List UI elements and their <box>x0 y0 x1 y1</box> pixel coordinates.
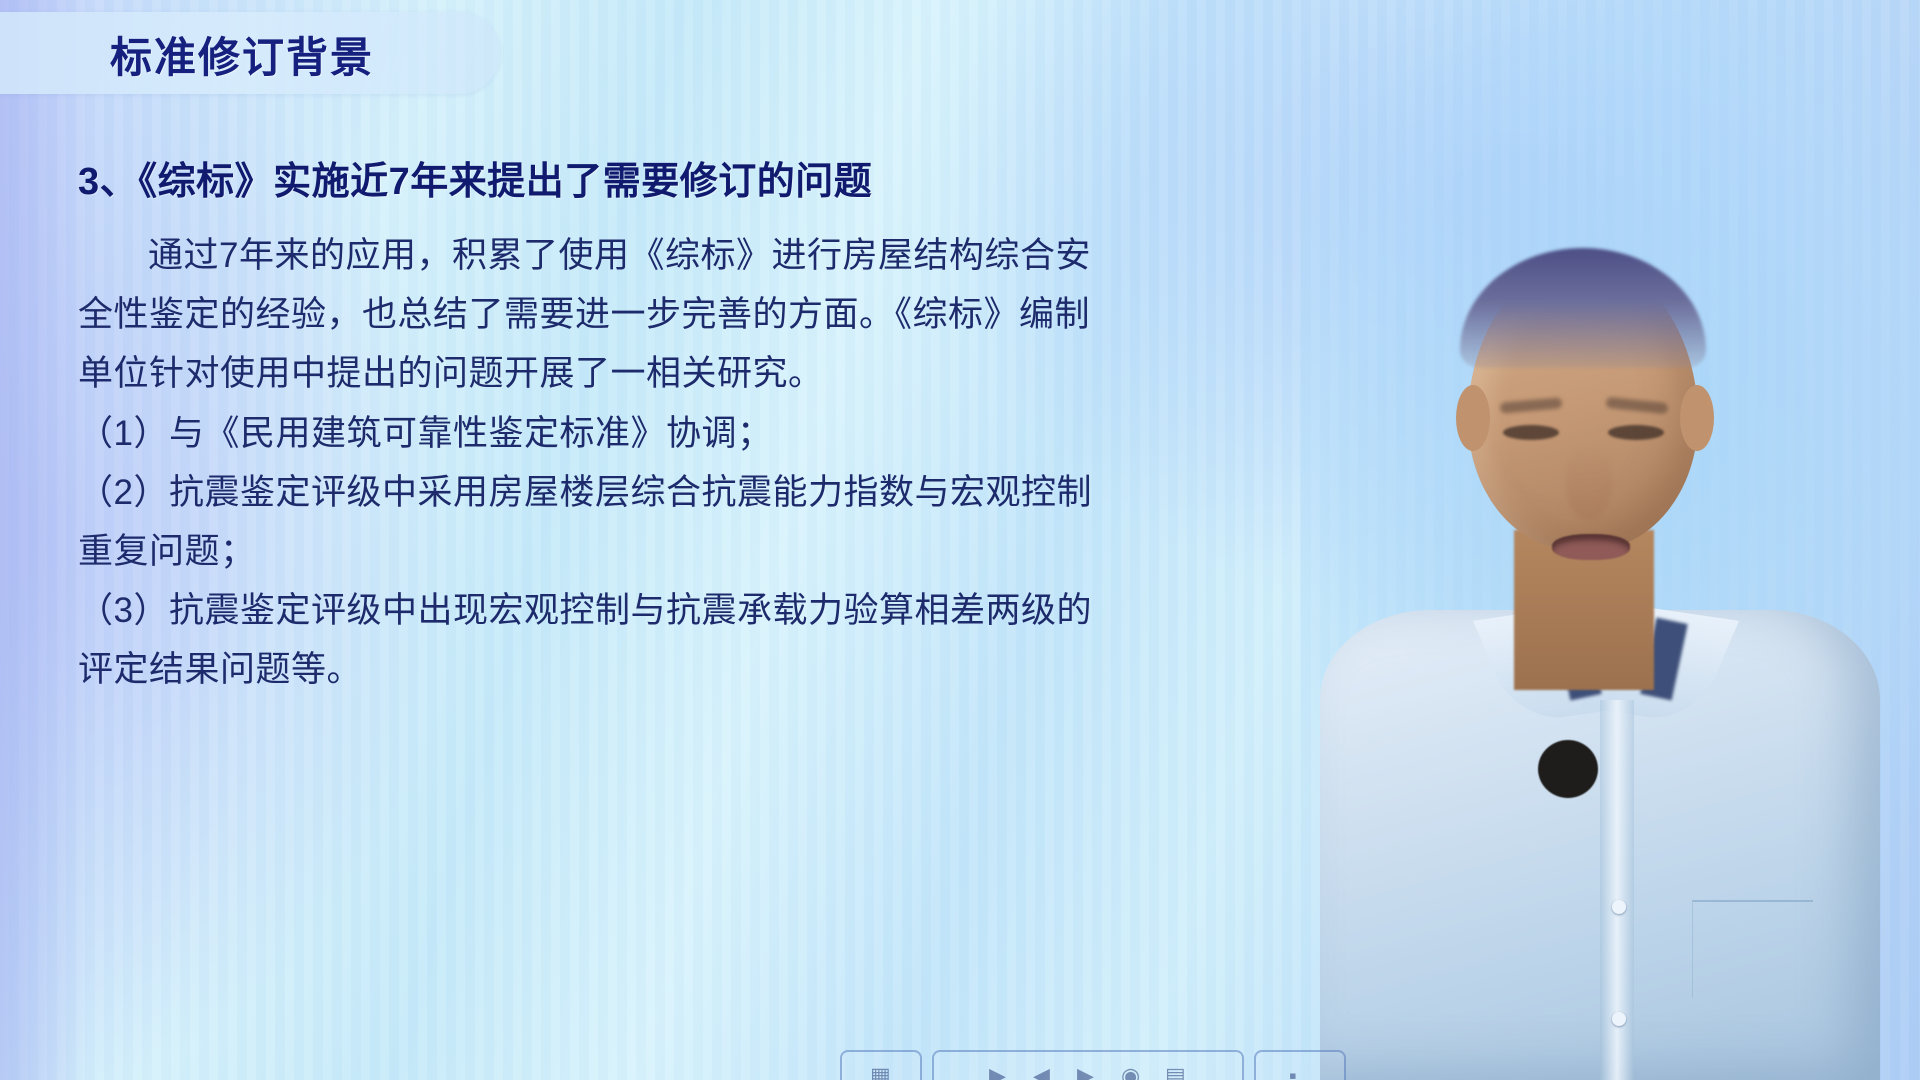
toolbar-grid-view-button[interactable]: ▦ <box>840 1050 922 1080</box>
player-toolbar[interactable]: ▦ ▶ ◀ ▶ ◉ ▤ ▪ <box>840 1050 1346 1080</box>
toolbar-more-button[interactable]: ▪ <box>1254 1050 1346 1080</box>
toolbar-transport-group[interactable]: ▶ ◀ ▶ ◉ ▤ <box>932 1050 1244 1080</box>
next-icon[interactable]: ▶ <box>1077 1063 1099 1080</box>
section-heading: 3、《综标》实施近7年来提出了需要修订的问题 <box>78 150 1108 205</box>
slide-stage: 标准修订背景 3、《综标》实施近7年来提出了需要修订的问题 通过7年来的应用，积… <box>0 0 1920 1080</box>
page-title: 标准修订背景 <box>110 24 374 85</box>
body-paragraph: 通过7年来的应用，积累了使用《综标》进行房屋结构综合安全性鉴定的经验，也总结了需… <box>78 227 1108 403</box>
bullet-item-3: （3）抗震鉴定评级中出现宏观控制与抗震承载力验算相差两级的评定结果问题等。 <box>78 582 1108 700</box>
prev-icon[interactable]: ◀ <box>1033 1063 1055 1080</box>
more-icon: ▪ <box>1289 1063 1311 1080</box>
menu-icon[interactable]: ▤ <box>1165 1063 1187 1080</box>
bullet-item-1: （1）与《民用建筑可靠性鉴定标准》协调； <box>78 405 1108 464</box>
speaker-icon[interactable]: ◉ <box>1121 1063 1143 1080</box>
grid-view-icon: ▦ <box>870 1063 892 1080</box>
slide-body: 3、《综标》实施近7年来提出了需要修订的问题 通过7年来的应用，积累了使用《综标… <box>78 150 1108 699</box>
play-icon[interactable]: ▶ <box>989 1063 1011 1080</box>
bullet-item-2: （2）抗震鉴定评级中采用房屋楼层综合抗震能力指数与宏观控制重复问题； <box>78 464 1108 582</box>
